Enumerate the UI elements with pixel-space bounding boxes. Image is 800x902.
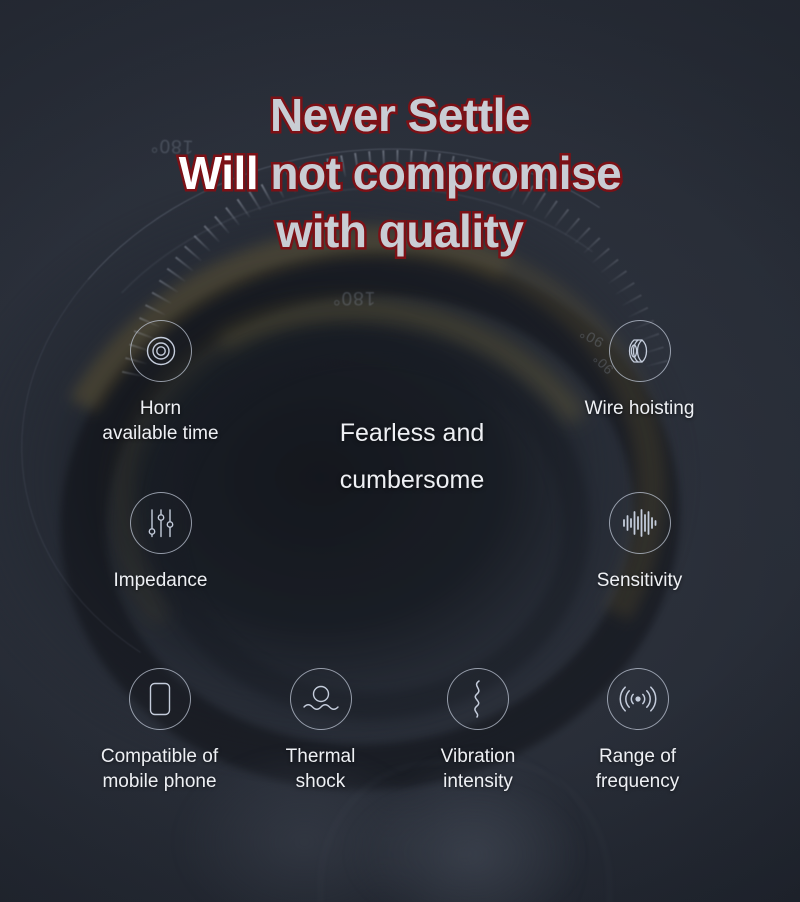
center-tagline: Fearless and cumbersome	[268, 410, 556, 504]
vertical-zigzag-icon	[447, 668, 509, 730]
headline-line-3: with quality	[0, 202, 800, 260]
feature-wire-hoisting: Wire hoisting	[552, 320, 727, 421]
signal-radiating-waves-icon	[607, 668, 669, 730]
page-title: Never Settle Will not compromise with qu…	[0, 86, 800, 260]
feature-label: Sensitivity	[552, 568, 727, 593]
feature-label: Vibration intensity	[408, 744, 548, 794]
headline-line-2: Will not compromise	[0, 144, 800, 202]
equalizer-sliders-icon	[130, 492, 192, 554]
feature-thermal-shock: Thermal shock	[258, 668, 383, 794]
audio-waveform-icon	[609, 492, 671, 554]
feature-horn-available-time: Horn available time	[58, 320, 263, 446]
feature-label: Horn available time	[58, 396, 263, 446]
feature-label: Impedance	[68, 568, 253, 593]
feature-impedance: Impedance	[68, 492, 253, 593]
feature-label: Wire hoisting	[552, 396, 727, 421]
feature-range-of-frequency: Range of frequency	[565, 668, 710, 794]
headline-line-2-rest: not compromise	[258, 147, 621, 199]
horn-speaker-icon	[130, 320, 192, 382]
sun-water-waves-icon	[290, 668, 352, 730]
feature-label: Compatible of mobile phone	[62, 744, 257, 794]
headline-emphasis: Will	[179, 147, 258, 199]
feature-compatible-mobile-phone: Compatible of mobile phone	[62, 668, 257, 794]
headline-line-1: Never Settle	[0, 86, 800, 144]
feature-label: Thermal shock	[258, 744, 383, 794]
feature-label: Range of frequency	[565, 744, 710, 794]
wire-coil-icon	[609, 320, 671, 382]
mobile-phone-icon	[129, 668, 191, 730]
feature-sensitivity: Sensitivity	[552, 492, 727, 593]
feature-vibration-intensity: Vibration intensity	[408, 668, 548, 794]
